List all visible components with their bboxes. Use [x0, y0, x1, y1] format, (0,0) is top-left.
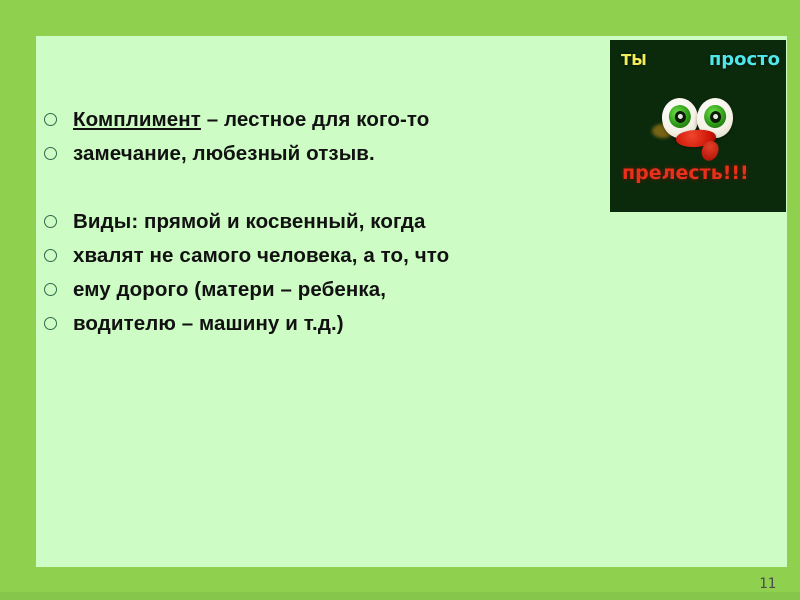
image-caption-top-left: ТЫ — [621, 51, 647, 69]
list-item-text: Виды: прямой и косвенный, когда — [73, 206, 425, 237]
bullet-circle-icon — [44, 249, 57, 262]
list-item[interactable]: хвалят не самого человека, а то, что — [44, 240, 604, 274]
bullet-circle-icon — [44, 147, 57, 160]
list-item[interactable]: ему дорого (матери – ребенка, — [44, 274, 604, 308]
list-item-text: хвалят не самого человека, а то, что — [73, 240, 449, 271]
list-item-text: замечание, любезный отзыв. — [73, 138, 375, 169]
pupil — [710, 111, 722, 124]
bullet-circle-icon — [44, 283, 57, 296]
content-panel: Комплимент – лестное для кого-то замечан… — [36, 36, 787, 567]
list-item-rest: – лестное для кого-то — [201, 108, 429, 131]
iris — [703, 105, 727, 130]
iris — [668, 104, 692, 129]
list-item-text: Комплимент – лестное для кого-то — [73, 104, 429, 135]
slide: Комплимент – лестное для кого-то замечан… — [0, 0, 800, 600]
bullet-circle-icon — [44, 317, 57, 330]
list-item-text: водителю – машину и т.д.) — [73, 308, 344, 339]
term-highlight: Комплимент — [73, 108, 201, 131]
bullet-list: Комплимент – лестное для кого-то замечан… — [44, 104, 604, 342]
list-item[interactable]: замечание, любезный отзыв. — [44, 138, 604, 172]
list-item[interactable]: Виды: прямой и косвенный, когда — [44, 206, 604, 240]
eye-glint — [713, 114, 718, 119]
image-caption-bottom: прелесть!!! — [622, 162, 749, 184]
bullet-circle-icon — [44, 215, 57, 228]
page-number: 11 — [759, 576, 776, 592]
pupil — [674, 111, 686, 124]
eye-glint — [678, 114, 683, 119]
bullet-circle-icon — [44, 113, 57, 126]
slide-image: ТЫ просто прелесть!!! — [610, 40, 786, 212]
list-item[interactable]: водителю – машину и т.д.) — [44, 308, 604, 342]
smiley-face-icon — [652, 96, 744, 162]
list-item-text: ему дорого (матери – ребенка, — [73, 274, 386, 305]
list-spacer — [44, 172, 604, 206]
image-caption-top-right: просто — [709, 49, 780, 70]
list-item[interactable]: Комплимент – лестное для кого-то — [44, 104, 604, 138]
